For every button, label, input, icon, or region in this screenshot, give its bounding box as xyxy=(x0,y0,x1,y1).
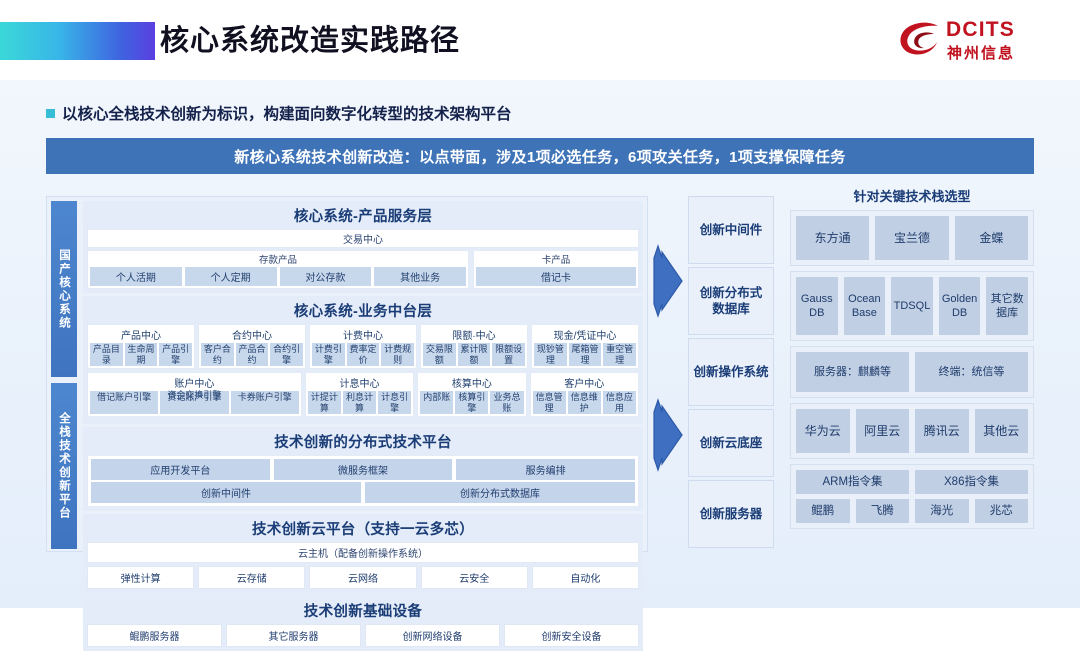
center-title: 客户中心 xyxy=(533,374,636,391)
center-item: 尾箱管理 xyxy=(569,343,602,366)
center-item: 核算引擎 xyxy=(455,391,488,414)
vendor-cell[interactable]: 终端：统信等 xyxy=(915,352,1028,392)
cloud-item: 云安全 xyxy=(421,566,528,589)
center-item: 累计限额 xyxy=(458,343,491,366)
cloud-item: 弹性计算 xyxy=(87,566,194,589)
center-items: 信息管理 信息维护 信息应用 xyxy=(533,391,636,414)
center-items: 产品目录 生命周期 产品引擎 xyxy=(90,343,192,366)
infra-item: 鲲鹏服务器 xyxy=(87,624,222,647)
instruction-set-cell[interactable]: ARM指令集 xyxy=(796,470,909,494)
flow-arrow-icon-top xyxy=(652,238,686,324)
layer-cloud-platform-title: 技术创新云平台（支持一云多芯） xyxy=(87,516,639,542)
center-item: 内部账 xyxy=(420,391,453,414)
layer-product-service-title: 核心系统-产品服务层 xyxy=(87,203,639,229)
cloud-item: 云网络 xyxy=(309,566,416,589)
cloud-host-bar: 云主机（配备创新操作系统） xyxy=(87,542,639,563)
card-product-row: 借记卡 xyxy=(476,267,636,286)
cloud-item: 自动化 xyxy=(532,566,639,589)
innovation-target-column: 创新中间件 创新分布式 数据库 创新操作系统 创新云底座 创新服务器 xyxy=(688,196,774,551)
dcits-logo: DCITS 神州信息 xyxy=(898,18,1038,64)
deposit-item: 其他业务 xyxy=(374,267,466,286)
vtab-fullstack-innovation-platform: 全栈技术创新平台 xyxy=(51,383,77,549)
architecture-panel: 国产核心系统 全栈技术创新平台 核心系统-产品服务层 交易中心 存款产品 个人活… xyxy=(46,196,648,552)
business-center-account: 账户中心 借记账户引擎 贷记账户引擎 资金交换引擎 卡券账户引擎 xyxy=(87,372,302,417)
center-title: 核算中心 xyxy=(420,374,523,391)
business-row-2: 账户中心 借记账户引擎 贷记账户引擎 资金交换引擎 卡券账户引擎 计息中心 xyxy=(87,372,639,417)
slide-header: 核心系统改造实践路径 DCITS 神州信息 xyxy=(0,0,1080,80)
vendor-cell[interactable]: 华为云 xyxy=(796,409,850,453)
tech-stack-selection-column: 针对关键技术栈选型 东方通 宝兰德 金蝶 GaussDB OceanBase T… xyxy=(790,186,1034,529)
innovation-item-cloud-base[interactable]: 创新云底座 xyxy=(688,409,774,477)
vendor-cell[interactable]: 阿里云 xyxy=(856,409,910,453)
chip-cell[interactable]: 兆芯 xyxy=(975,499,1029,523)
cloud-capability-row: 弹性计算 云存储 云网络 云安全 自动化 xyxy=(87,566,639,589)
logo-text-en: DCITS xyxy=(946,18,1015,42)
center-item: 卡券账户引擎 xyxy=(231,391,299,414)
page-title: 核心系统改造实践路径 xyxy=(160,22,460,60)
layer-business-middle-platform: 核心系统-业务中台层 产品中心 产品目录 生命周期 产品引擎 合约中心 客户 xyxy=(83,296,643,424)
center-item: 业务总账 xyxy=(490,391,523,414)
center-item-overlay: 资金交换引擎 xyxy=(160,390,228,401)
center-title: 计费中心 xyxy=(312,326,414,343)
center-item: 计息引擎 xyxy=(378,391,411,414)
center-item: 重空管理 xyxy=(603,343,636,366)
card-product-caption: 卡产品 xyxy=(476,252,636,267)
cpu-chip-row: 鲲鹏 飞腾 海光 兆芯 xyxy=(796,499,1028,523)
deposit-product-row: 个人活期 个人定期 对公存款 其他业务 xyxy=(90,267,466,286)
tech-platform-row-2: 创新中间件 创新分布式数据库 xyxy=(91,482,635,503)
innovation-item-distributed-database[interactable]: 创新分布式 数据库 xyxy=(688,267,774,335)
layer-distributed-tech-platform: 技术创新的分布式技术平台 应用开发平台 微服务框架 服务编排 创新中间件 创新分… xyxy=(83,427,643,511)
vendor-cell[interactable]: GaussDB xyxy=(796,277,838,335)
center-item: 合约引擎 xyxy=(270,343,303,366)
center-item: 计费规则 xyxy=(381,343,414,366)
business-center: 客户中心 信息管理 信息维护 信息应用 xyxy=(530,372,639,417)
center-item: 客户合约 xyxy=(201,343,234,366)
vendor-cell[interactable]: 服务器：麒麟等 xyxy=(796,352,909,392)
center-item: 产品合约 xyxy=(236,343,269,366)
product-groups: 存款产品 个人活期 个人定期 对公存款 其他业务 卡产品 借记卡 xyxy=(87,250,639,289)
innovation-item-server[interactable]: 创新服务器 xyxy=(688,480,774,548)
center-item: 生命周期 xyxy=(125,343,158,366)
dcits-logo-mark-icon xyxy=(898,20,942,60)
center-item: 产品目录 xyxy=(90,343,123,366)
vendor-cell[interactable]: 东方通 xyxy=(796,216,869,260)
vendor-cell[interactable]: GoldenDB xyxy=(939,277,981,335)
vendor-cell[interactable]: 宝兰德 xyxy=(875,216,948,260)
center-item: 费率定价 xyxy=(347,343,380,366)
innovation-item-operating-system[interactable]: 创新操作系统 xyxy=(688,338,774,406)
center-item: 限额设置 xyxy=(492,343,525,366)
tech-platform-item: 创新中间件 xyxy=(91,482,361,503)
infra-item: 其它服务器 xyxy=(226,624,361,647)
business-center: 计息中心 计提计算 利息计算 计息引擎 xyxy=(305,372,414,417)
layer-product-service: 核心系统-产品服务层 交易中心 存款产品 个人活期 个人定期 对公存款 其他业务… xyxy=(83,201,643,293)
center-items: 内部账 核算引擎 业务总账 xyxy=(420,391,523,414)
tech-platform-item: 服务编排 xyxy=(456,459,635,480)
highlight-banner-text: 新核心系统技术创新改造：以点带面，涉及1项必选任务，6项攻关任务，1项支撑保障任… xyxy=(234,146,845,167)
center-item: 借记账户引擎 xyxy=(90,391,158,414)
business-center: 限额·中心 交易限额 累计限额 限额设置 xyxy=(420,324,528,369)
infrastructure-row: 鲲鹏服务器 其它服务器 创新网络设备 创新安全设备 xyxy=(87,624,639,647)
business-center: 产品中心 产品目录 生命周期 产品引擎 xyxy=(87,324,195,369)
center-title: 现金/凭证中心 xyxy=(534,326,636,343)
tech-stack-selection-title: 针对关键技术栈选型 xyxy=(790,186,1034,205)
business-center: 合约中心 客户合约 产品合约 合约引擎 xyxy=(198,324,306,369)
database-vendor-group: GaussDB OceanBase TDSQL GoldenDB 其它数据库 xyxy=(790,271,1034,341)
center-items: 现钞管理 尾箱管理 重空管理 xyxy=(534,343,636,366)
innovation-item-middleware[interactable]: 创新中间件 xyxy=(688,196,774,264)
card-product-group: 卡产品 借记卡 xyxy=(473,250,639,289)
sub-headline-text: 以核心全栈技术创新为标识，构建面向数字化转型的技术架构平台 xyxy=(62,102,512,124)
business-center: 现金/凭证中心 现钞管理 尾箱管理 重空管理 xyxy=(531,324,639,369)
center-item: 计费引擎 xyxy=(312,343,345,366)
center-item: 信息管理 xyxy=(533,391,566,414)
layer-infrastructure: 技术创新基础设备 鲲鹏服务器 其它服务器 创新网络设备 创新安全设备 xyxy=(83,596,643,651)
cloud-item: 云存储 xyxy=(198,566,305,589)
instruction-set-cell[interactable]: X86指令集 xyxy=(915,470,1028,494)
deposit-product-group: 存款产品 个人活期 个人定期 对公存款 其他业务 xyxy=(87,250,469,289)
center-item-overlap-wrap: 贷记账户引擎 资金交换引擎 xyxy=(160,391,228,414)
layer-tech-platform-title: 技术创新的分布式技术平台 xyxy=(87,429,639,455)
tech-platform-item: 微服务框架 xyxy=(274,459,453,480)
center-items: 计费引擎 费率定价 计费规则 xyxy=(312,343,414,366)
vendor-cell[interactable]: 其他云 xyxy=(975,409,1029,453)
tech-platform-box: 应用开发平台 微服务框架 服务编排 创新中间件 创新分布式数据库 xyxy=(87,455,639,507)
logo-text-cn: 神州信息 xyxy=(947,42,1015,63)
center-title: 限额·中心 xyxy=(423,326,525,343)
center-title: 计息中心 xyxy=(308,374,411,391)
infra-item: 创新网络设备 xyxy=(365,624,500,647)
chip-cell[interactable]: 飞腾 xyxy=(856,499,910,523)
tech-platform-item: 创新分布式数据库 xyxy=(365,482,635,503)
cloud-vendor-row: 华为云 阿里云 腾讯云 其他云 xyxy=(796,409,1028,453)
vendor-cell[interactable]: OceanBase xyxy=(844,277,886,335)
layer-business-title: 核心系统-业务中台层 xyxy=(87,298,639,324)
cpu-instruction-set-row: ARM指令集 X86指令集 xyxy=(796,470,1028,494)
vendor-cell[interactable]: 金蝶 xyxy=(955,216,1028,260)
center-items: 计提计算 利息计算 计息引擎 xyxy=(308,391,411,414)
architecture-layer-stack: 核心系统-产品服务层 交易中心 存款产品 个人活期 个人定期 对公存款 其他业务… xyxy=(83,201,643,651)
bullet-square-icon xyxy=(46,109,55,118)
center-item: 计提计算 xyxy=(308,391,341,414)
os-vendor-row: 服务器：麒麟等 终端：统信等 xyxy=(796,352,1028,392)
os-vendor-group: 服务器：麒麟等 终端：统信等 xyxy=(790,346,1034,398)
cpu-vendor-group: ARM指令集 X86指令集 鲲鹏 飞腾 海光 兆芯 xyxy=(790,464,1034,529)
deposit-item: 个人活期 xyxy=(90,267,182,286)
infra-item: 创新安全设备 xyxy=(504,624,639,647)
middleware-vendor-row: 东方通 宝兰德 金蝶 xyxy=(796,216,1028,260)
deposit-product-caption: 存款产品 xyxy=(90,252,466,267)
center-item: 信息应用 xyxy=(603,391,636,414)
center-items: 借记账户引擎 贷记账户引擎 资金交换引擎 卡券账户引擎 xyxy=(90,391,299,414)
center-title: 合约中心 xyxy=(201,326,303,343)
center-item: 利息计算 xyxy=(343,391,376,414)
layer-cloud-platform: 技术创新云平台（支持一云多芯） 云主机（配备创新操作系统） 弹性计算 云存储 云… xyxy=(83,514,643,593)
chip-cell[interactable]: 海光 xyxy=(915,499,969,523)
middleware-vendor-group: 东方通 宝兰德 金蝶 xyxy=(790,210,1034,266)
center-items: 交易限额 累计限额 限额设置 xyxy=(423,343,525,366)
vendor-cell[interactable]: 其它数据库 xyxy=(986,277,1028,335)
center-item: 信息维护 xyxy=(568,391,601,414)
trade-center-bar: 交易中心 xyxy=(87,229,639,248)
slide-root: 核心系统改造实践路径 DCITS 神州信息 以核心全栈技术创新为标识，构建面向数… xyxy=(0,0,1080,608)
business-center: 核算中心 内部账 核算引擎 业务总账 xyxy=(417,372,526,417)
tech-platform-item: 应用开发平台 xyxy=(91,459,270,480)
card-item: 借记卡 xyxy=(476,267,636,286)
business-center: 计费中心 计费引擎 费率定价 计费规则 xyxy=(309,324,417,369)
business-row-1: 产品中心 产品目录 生命周期 产品引擎 合约中心 客户合约 产品合约 合约引擎 xyxy=(87,324,639,369)
deposit-item: 对公存款 xyxy=(280,267,372,286)
center-item: 现钞管理 xyxy=(534,343,567,366)
deposit-item: 个人定期 xyxy=(185,267,277,286)
header-gradient-bar xyxy=(0,22,155,60)
tech-platform-row-1: 应用开发平台 微服务框架 服务编排 xyxy=(91,459,635,480)
layer-infrastructure-title: 技术创新基础设备 xyxy=(87,598,639,624)
vendor-cell[interactable]: TDSQL xyxy=(891,277,933,335)
center-item: 产品引擎 xyxy=(159,343,192,366)
center-items: 客户合约 产品合约 合约引擎 xyxy=(201,343,303,366)
highlight-banner: 新核心系统技术创新改造：以点带面，涉及1项必选任务，6项攻关任务，1项支撑保障任… xyxy=(46,138,1034,174)
center-title: 产品中心 xyxy=(90,326,192,343)
sub-headline: 以核心全栈技术创新为标识，构建面向数字化转型的技术架构平台 xyxy=(46,102,512,124)
vtab-domestic-core-system: 国产核心系统 xyxy=(51,201,77,377)
cloud-vendor-group: 华为云 阿里云 腾讯云 其他云 xyxy=(790,403,1034,459)
center-title: 账户中心 xyxy=(90,374,299,391)
center-item: 交易限额 xyxy=(423,343,456,366)
vendor-cell[interactable]: 腾讯云 xyxy=(915,409,969,453)
database-vendor-row: GaussDB OceanBase TDSQL GoldenDB 其它数据库 xyxy=(796,277,1028,335)
chip-cell[interactable]: 鲲鹏 xyxy=(796,499,850,523)
flow-arrow-icon-bottom xyxy=(652,392,686,478)
